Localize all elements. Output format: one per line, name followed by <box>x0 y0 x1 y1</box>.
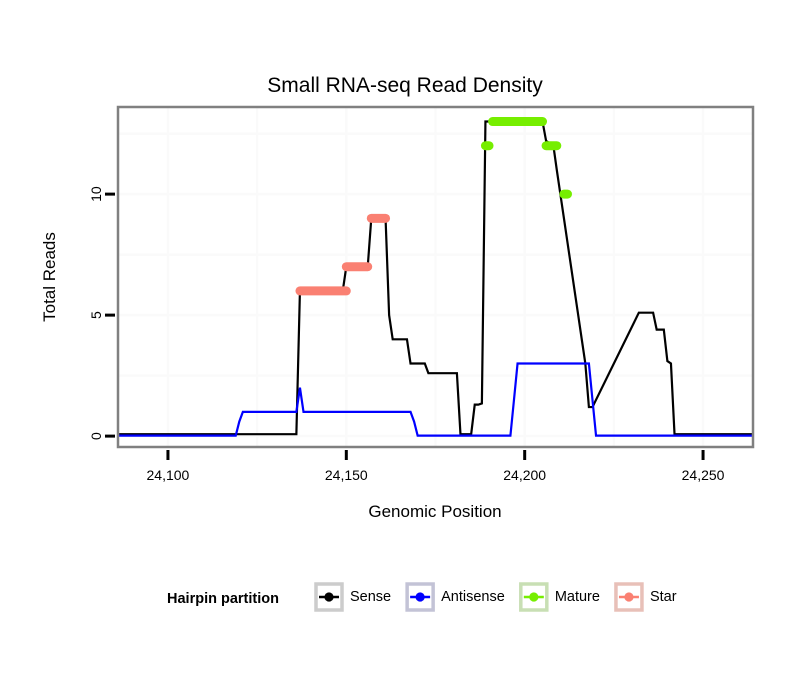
legend-entry-label: Sense <box>350 589 391 605</box>
legend-key-point <box>529 592 538 601</box>
x-tick-label: 24,150 <box>325 467 368 483</box>
x-axis-title: Genomic Position <box>368 502 501 521</box>
x-tick-label: 24,250 <box>682 467 725 483</box>
x-tick-label: 24,200 <box>503 467 546 483</box>
legend-title: Hairpin partition <box>167 591 279 607</box>
legend-key-point <box>624 592 633 601</box>
y-tick-label: 10 <box>88 186 104 202</box>
legend-entry-label: Mature <box>555 589 600 605</box>
legend-key-point <box>416 592 425 601</box>
chart-title: Small RNA-seq Read Density <box>267 74 543 97</box>
y-tick-label: 5 <box>88 311 104 319</box>
y-axis-title: Total Reads <box>40 232 59 322</box>
read-density-chart: Small RNA-seq Read Density 24,10024,1502… <box>0 0 810 690</box>
plot-panel <box>118 107 753 447</box>
legend-key-point <box>324 592 333 601</box>
y-tick-label: 0 <box>88 432 104 440</box>
x-tick-label: 24,100 <box>147 467 190 483</box>
chart-container: Small RNA-seq Read Density 24,10024,1502… <box>0 0 810 690</box>
legend-entry-label: Star <box>650 589 677 605</box>
legend-entry-label: Antisense <box>441 589 505 605</box>
